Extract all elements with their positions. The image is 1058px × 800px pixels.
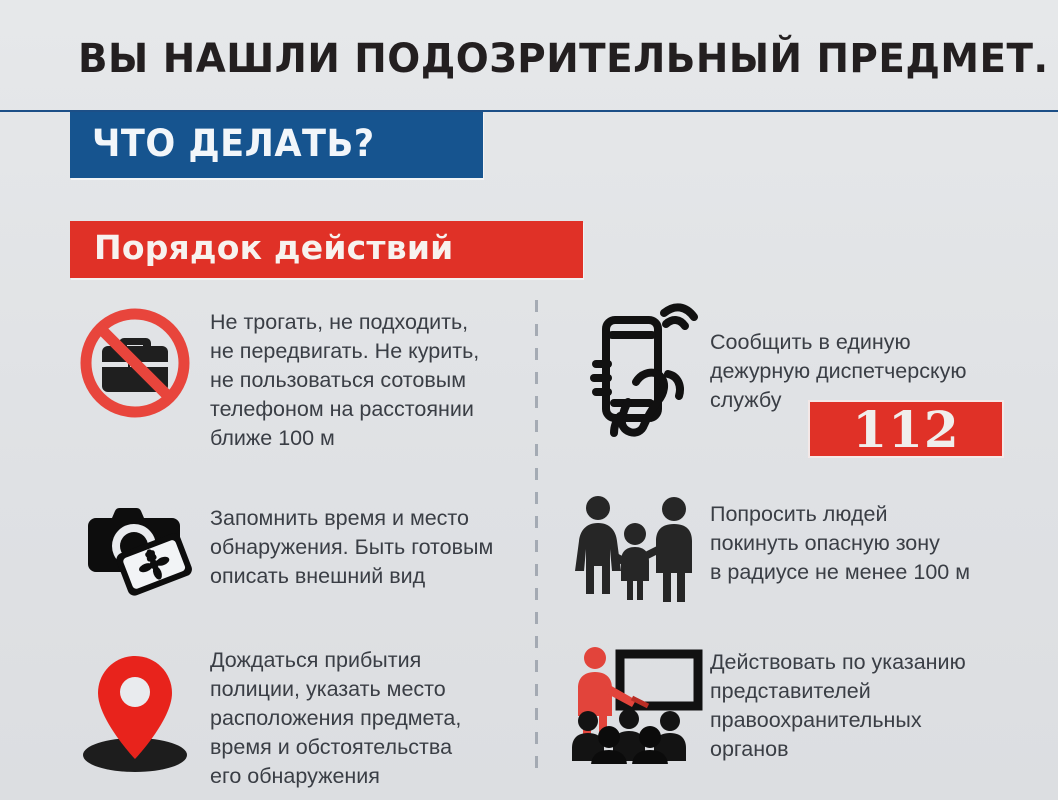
no-briefcase-icon (60, 300, 210, 424)
column-divider (535, 300, 538, 770)
list-item: Попросить людей покинуть опасную зону в … (560, 490, 1030, 640)
emergency-number-text: 112 (810, 400, 1002, 459)
right-column: Сообщить в единую дежурную диспетчерскую… (560, 300, 1030, 790)
page-title: ВЫ НАШЛИ ПОДОЗРИТЕЛЬНЫЙ ПРЕДМЕТ. (78, 36, 1049, 82)
list-item-text: Запомнить время и место обнаружения. Быт… (210, 490, 530, 591)
list-item-text: Действовать по указанию представителей п… (710, 640, 1030, 764)
section-banner-label: Порядок действий (94, 228, 453, 267)
map-pin-icon (60, 640, 210, 774)
subtitle-banner: ЧТО ДЕЛАТЬ? (70, 112, 483, 178)
list-item: Действовать по указанию представителей п… (560, 640, 1030, 790)
infographic-poster: ВЫ НАШЛИ ПОДОЗРИТЕЛЬНЫЙ ПРЕДМЕТ. ЧТО ДЕЛ… (0, 0, 1058, 800)
list-item: Сообщить в единую дежурную диспетчерскую… (560, 300, 1030, 490)
subtitle-text: ЧТО ДЕЛАТЬ? (92, 122, 375, 165)
emergency-number-badge: 112 (810, 402, 1002, 456)
camera-photo-icon (60, 490, 210, 600)
list-item-text: Дождаться прибытия полиции, указать мест… (210, 640, 530, 791)
list-item-text: Сообщить в единую дежурную диспетчерскую… (710, 300, 1030, 415)
presentation-briefing-icon (560, 640, 710, 764)
list-item-text: Попросить людей покинуть опасную зону в … (710, 490, 1030, 587)
left-column: Не трогать, не подходить, не передвигать… (60, 300, 530, 790)
section-banner: Порядок действий (70, 221, 583, 278)
family-people-icon (560, 490, 710, 602)
hand-phone-call-icon (560, 300, 710, 452)
list-item: Запомнить время и место обнаружения. Быт… (60, 490, 530, 640)
list-item: Не трогать, не подходить, не передвигать… (60, 300, 530, 490)
list-item: Дождаться прибытия полиции, указать мест… (60, 640, 530, 790)
list-item-text: Не трогать, не подходить, не передвигать… (210, 300, 530, 453)
